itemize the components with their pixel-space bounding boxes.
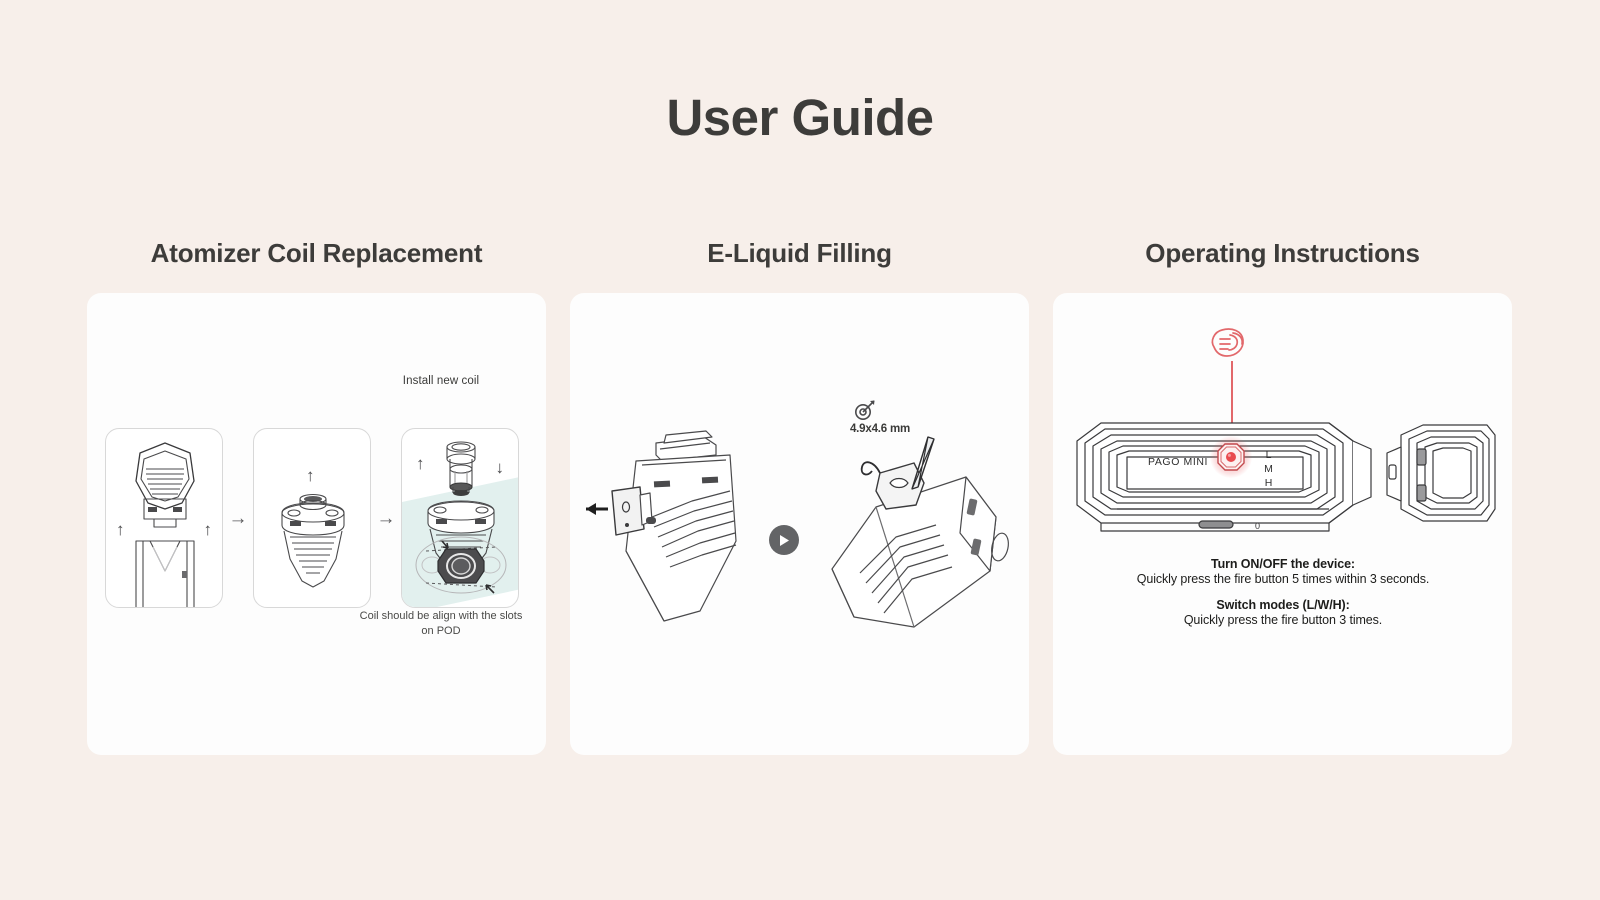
section-atomizer-coil-replacement: Atomizer Coil Replacement Install new co… (82, 238, 551, 755)
up-arrow-icon: ↑ (204, 521, 213, 538)
up-arrow-icon: ↑ (306, 467, 315, 484)
pod-detach-illustration (106, 429, 223, 608)
step-arrow-2: → (371, 509, 401, 528)
step-box-2: ↑ (253, 428, 371, 608)
caption-install-new-coil: Install new coil (361, 375, 521, 387)
section-title-e-liquid-filling: E-Liquid Filling (707, 238, 892, 269)
device-brand-label: PAGO MINI (1148, 456, 1208, 468)
sections-container: Atomizer Coil Replacement Install new co… (82, 238, 1518, 755)
section-title-atomizer-coil-replacement: Atomizer Coil Replacement (151, 238, 483, 269)
step-box-1: ↑ ↑ (105, 428, 223, 608)
card-operating-instructions: 0 PAGO MINI LMH Turn ON/OFF the device: … (1053, 293, 1512, 755)
device-mode-labels: LMH (1263, 449, 1274, 491)
section-e-liquid-filling: E-Liquid Filling (565, 238, 1034, 755)
caption-coil-alignment: Coil should be align with the slots on P… (355, 609, 527, 639)
page-title: User Guide (0, 88, 1600, 147)
fire-button[interactable] (1216, 442, 1246, 472)
instruction-heading-modes: Switch modes (L/W/H): (1083, 598, 1483, 612)
card-atomizer-coil-replacement: Install new coil ↑ ↑ (87, 293, 546, 755)
instruction-body-modes: Quickly press the fire button 3 times. (1083, 613, 1483, 627)
step-box-3: ↑ ↓ (401, 428, 519, 608)
section-operating-instructions: Operating Instructions (1048, 238, 1517, 755)
step-arrow-1: → (223, 509, 253, 528)
up-arrow-icon: ↑ (116, 521, 125, 538)
play-arrow-icon (769, 525, 799, 555)
svg-text:0: 0 (1255, 521, 1260, 531)
card-e-liquid-filling: 4.9x4.6 mm (570, 293, 1029, 755)
operating-instructions-text: Turn ON/OFF the device: Quickly press th… (1083, 557, 1483, 627)
hand-press-icon (1208, 325, 1248, 361)
device-front-view: 0 (1071, 413, 1496, 533)
coil-removal-illustration (254, 429, 371, 608)
target-dart-icon (853, 398, 877, 422)
pod-plug-removal-illustration (580, 421, 790, 651)
coil-replacement-steps: ↑ ↑ (105, 403, 530, 633)
instruction-body-power: Quickly press the fire button 5 times wi… (1083, 572, 1483, 586)
user-guide-page: User Guide Atomizer Coil Replacement Ins… (0, 0, 1600, 900)
coil-alignment-detail (402, 517, 519, 607)
instruction-heading-power: Turn ON/OFF the device: (1083, 557, 1483, 571)
pod-filling-illustration (818, 421, 1018, 651)
section-title-operating-instructions: Operating Instructions (1145, 238, 1419, 269)
